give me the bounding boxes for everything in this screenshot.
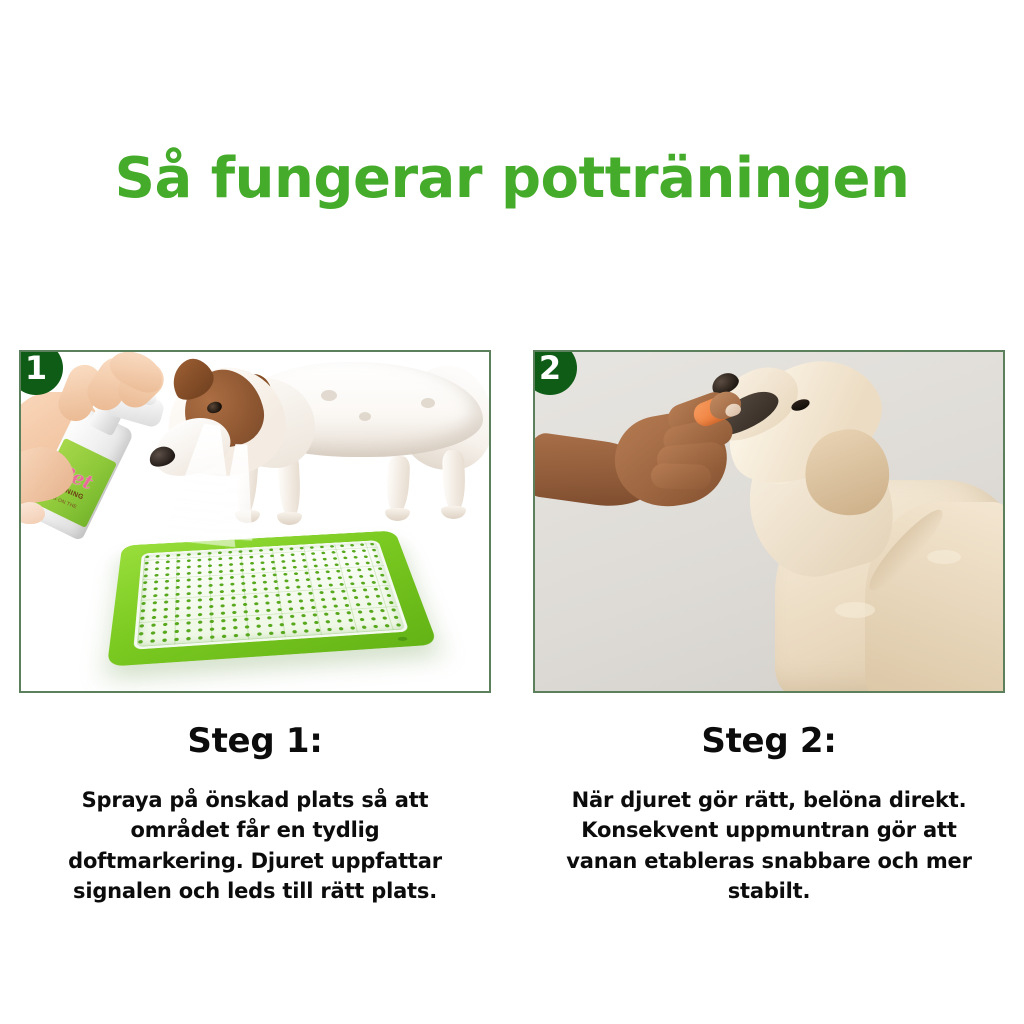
hand-finger-4 [651, 463, 712, 490]
steps-container: Pet TRAINING DOGS ON THE [0, 350, 1024, 907]
dog-paw-4 [441, 506, 466, 519]
potty-training-pad [107, 531, 438, 667]
fur-wisp-3 [927, 550, 961, 564]
step-1-heading: Steg 1: [19, 721, 491, 761]
step-1-description: Spraya på önskad plats så att området få… [45, 785, 465, 907]
step-card-2: 2 Steg 2: När djuret gör rätt, belöna di… [533, 350, 1005, 907]
dog-paw-2 [277, 512, 302, 525]
spray-scene-illustration: Pet TRAINING DOGS ON THE [21, 352, 489, 691]
page-title: Så fungerar potträningen [0, 148, 1024, 210]
reward-scene-illustration [535, 352, 1003, 691]
dog-hind-leg-left [385, 455, 410, 514]
dog-spot-2 [359, 412, 371, 421]
pad-drain-hole [397, 637, 408, 642]
fur-wisp-2 [835, 602, 875, 618]
step-card-1: Pet TRAINING DOGS ON THE [19, 350, 491, 907]
step-2-heading: Steg 2: [533, 721, 1005, 761]
dog-hind-leg-right [442, 450, 466, 513]
step-2-description: När djuret gör rätt, belöna direkt. Kons… [559, 785, 979, 907]
step-2-image-card: 2 [533, 350, 1005, 693]
dog-spot-1 [321, 390, 337, 401]
dog-paw-3 [385, 508, 410, 521]
hand-thumb-nail [19, 502, 45, 524]
dog-spot-3 [421, 398, 435, 408]
step-1-image-card: Pet TRAINING DOGS ON THE [19, 350, 491, 693]
pad-grid-insert [133, 540, 409, 649]
